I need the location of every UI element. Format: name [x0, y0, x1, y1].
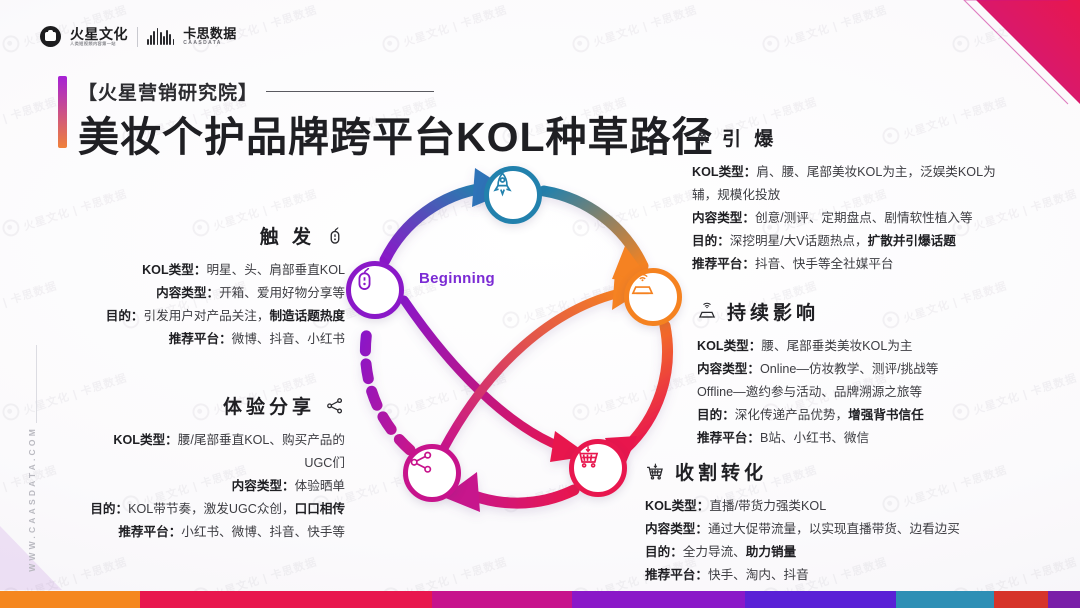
section-share-title: 体验分享: [223, 392, 315, 419]
section-trigger-lines: KOL类型：明星、头、肩部垂直KOL内容类型：开箱、爱用好物分享等目的：引发用户…: [60, 259, 345, 351]
section-ignite: 引 爆 KOL类型：肩、腰、尾部美妆KOL为主，泛娱类KOL为辅，规模化投放内容…: [692, 124, 1052, 276]
rocket-node[interactable]: [484, 166, 542, 224]
section-line: 内容类型：体验晒单: [50, 475, 345, 498]
title-accent-bar: [58, 76, 67, 148]
section-line: KOL类型：明星、头、肩部垂直KOL: [60, 259, 345, 282]
watermark: 火星文化 | 卡思数据: [570, 0, 699, 56]
side-url: WWW.CAASDATA.COM: [27, 426, 37, 572]
bottom-bar-segment: [1048, 591, 1080, 608]
section-convert-lines: KOL类型：直播/带货力强类KOL内容类型：通过大促带流量，以实现直播带货、边看…: [645, 495, 1055, 587]
section-share-lines: KOL类型：腰/尾部垂直KOL、购买产品的UGC们内容类型：体验晒单目的：KOL…: [50, 429, 345, 544]
router-icon: [697, 302, 717, 322]
kicker: 【火星营销研究院】: [78, 78, 434, 105]
mouse-node[interactable]: [346, 261, 404, 319]
bars-logo-icon: [147, 28, 174, 45]
section-line: 目的：KOL带节奏，激发UGC众创，口口相传: [50, 498, 345, 521]
section-convert: 收割转化 KOL类型：直播/带货力强类KOL内容类型：通过大促带流量，以实现直播…: [645, 458, 1055, 587]
bottom-bar-segment: [140, 591, 432, 608]
section-ignite-lines: KOL类型：肩、腰、尾部美妆KOL为主，泛娱类KOL为辅，规模化投放内容类型：创…: [692, 161, 1052, 276]
side-rule: [36, 345, 37, 423]
slide-canvas: 火星文化 | 卡思数据火星文化 | 卡思数据火星文化 | 卡思数据火星文化 | …: [0, 0, 1080, 608]
mouse-icon: [325, 226, 345, 246]
beginning-label: Beginning: [419, 270, 495, 287]
logo-divider: [137, 27, 138, 47]
section-share: 体验分享 KOL类型：腰/尾部垂直KOL、购买产品的UGC们内容类型：体验晒单目…: [50, 392, 345, 544]
section-line: KOL类型：直播/带货力强类KOL: [645, 495, 1055, 518]
section-influence: 持续影响 KOL类型：腰、尾部垂类美妆KOL为主内容类型：Online—仿妆教学…: [697, 298, 1062, 450]
bottom-bar-segment: [572, 591, 745, 608]
section-share-header: 体验分享: [50, 392, 345, 419]
bottom-bar-segment: [0, 591, 140, 608]
bottom-bar-segment: [896, 591, 993, 608]
section-influence-lines: KOL类型：腰、尾部垂类美妆KOL为主内容类型：Online—仿妆教学、测评/挑…: [697, 335, 1062, 450]
watermark: 火星文化 | 卡思数据: [380, 0, 509, 56]
section-line: 内容类型：创意/测评、定期盘点、剧情软性植入等: [692, 207, 1052, 230]
bottom-bar-segment: [432, 591, 572, 608]
section-ignite-header: 引 爆: [692, 124, 1052, 151]
section-influence-title: 持续影响: [727, 298, 819, 325]
section-line: Offline—邀约参与活动、品牌溯源之旅等: [697, 381, 1062, 404]
section-line: 目的：全力导流、助力销量: [645, 541, 1055, 564]
section-trigger: 触 发 KOL类型：明星、头、肩部垂直KOL内容类型：开箱、爱用好物分享等目的：…: [60, 222, 345, 351]
section-line: 目的：深化传递产品优势，增强背书信任: [697, 404, 1062, 427]
section-line: 推荐平台：微博、抖音、小红书: [60, 328, 345, 351]
section-line: KOL类型：肩、腰、尾部美妆KOL为主，泛娱类KOL为: [692, 161, 1052, 184]
section-line: 推荐平台：小红书、微博、抖音、快手等: [50, 521, 345, 544]
section-line: 推荐平台：B站、小红书、微信: [697, 427, 1062, 450]
section-line: 内容类型：Online—仿妆教学、测评/挑战等: [697, 358, 1062, 381]
section-line: 目的：引发用户对产品关注，制造话题热度: [60, 305, 345, 328]
section-line: UGC们: [50, 452, 345, 475]
section-line: 目的：深挖明星/大V话题热点，扩散并引爆话题: [692, 230, 1052, 253]
watermark: 火星文化 | 卡思数据: [0, 91, 59, 149]
rocket-icon: [692, 128, 712, 148]
section-trigger-title: 触 发: [260, 222, 315, 249]
brand-name-cn: 火星文化 人类短视频内容第一站: [70, 27, 128, 46]
section-line: 内容类型：开箱、爱用好物分享等: [60, 282, 345, 305]
kicker-text: 【火星营销研究院】: [78, 78, 258, 105]
brand-logo: 火星文化 人类短视频内容第一站 卡思数据 CAASDATA: [40, 26, 237, 47]
section-convert-header: 收割转化: [645, 458, 1055, 485]
section-trigger-header: 触 发: [60, 222, 345, 249]
bottom-bar-segment: [745, 591, 896, 608]
arrow-trigger-to-ignite: [385, 188, 484, 260]
section-line: KOL类型：腰/尾部垂直KOL、购买产品的: [50, 429, 345, 452]
bottom-color-bar: [0, 591, 1080, 608]
arrow-trigger-to-convert: [404, 300, 570, 450]
section-line: 推荐平台：抖音、快手等全社媒平台: [692, 253, 1052, 276]
watermark: 火星文化 | 卡思数据: [760, 0, 889, 56]
brand-name-data: 卡思数据 CAASDATA: [183, 27, 236, 46]
kicker-rule: [266, 91, 434, 93]
arrow-influence-to-convert: [625, 326, 667, 449]
section-line: 推荐平台：快手、淘内、抖音: [645, 564, 1055, 587]
arrow-share-to-influence: [443, 292, 624, 450]
brand-tagline: 人类短视频内容第一站: [70, 42, 128, 46]
share-icon: [325, 396, 345, 416]
section-ignite-title: 引 爆: [722, 124, 777, 151]
section-line: KOL类型：腰、尾部垂类美妆KOL为主: [697, 335, 1062, 358]
cart-node[interactable]: [569, 439, 627, 497]
section-line: 辅，规模化投放: [692, 184, 1052, 207]
section-line: 内容类型：通过大促带流量，以实现直播带货、边看边买: [645, 518, 1055, 541]
corner-decoration-top-right: [960, 0, 1080, 120]
camera-logo-icon: [40, 26, 61, 47]
router-node[interactable]: [624, 268, 682, 326]
section-influence-header: 持续影响: [697, 298, 1062, 325]
bottom-bar-segment: [994, 591, 1048, 608]
section-convert-title: 收割转化: [675, 458, 767, 485]
cart-icon: [645, 462, 665, 482]
arrow-share-to-trigger-dashed: [365, 325, 410, 450]
watermark: 火星文化 | 卡思数据: [0, 275, 59, 333]
share-node[interactable]: [403, 444, 461, 502]
